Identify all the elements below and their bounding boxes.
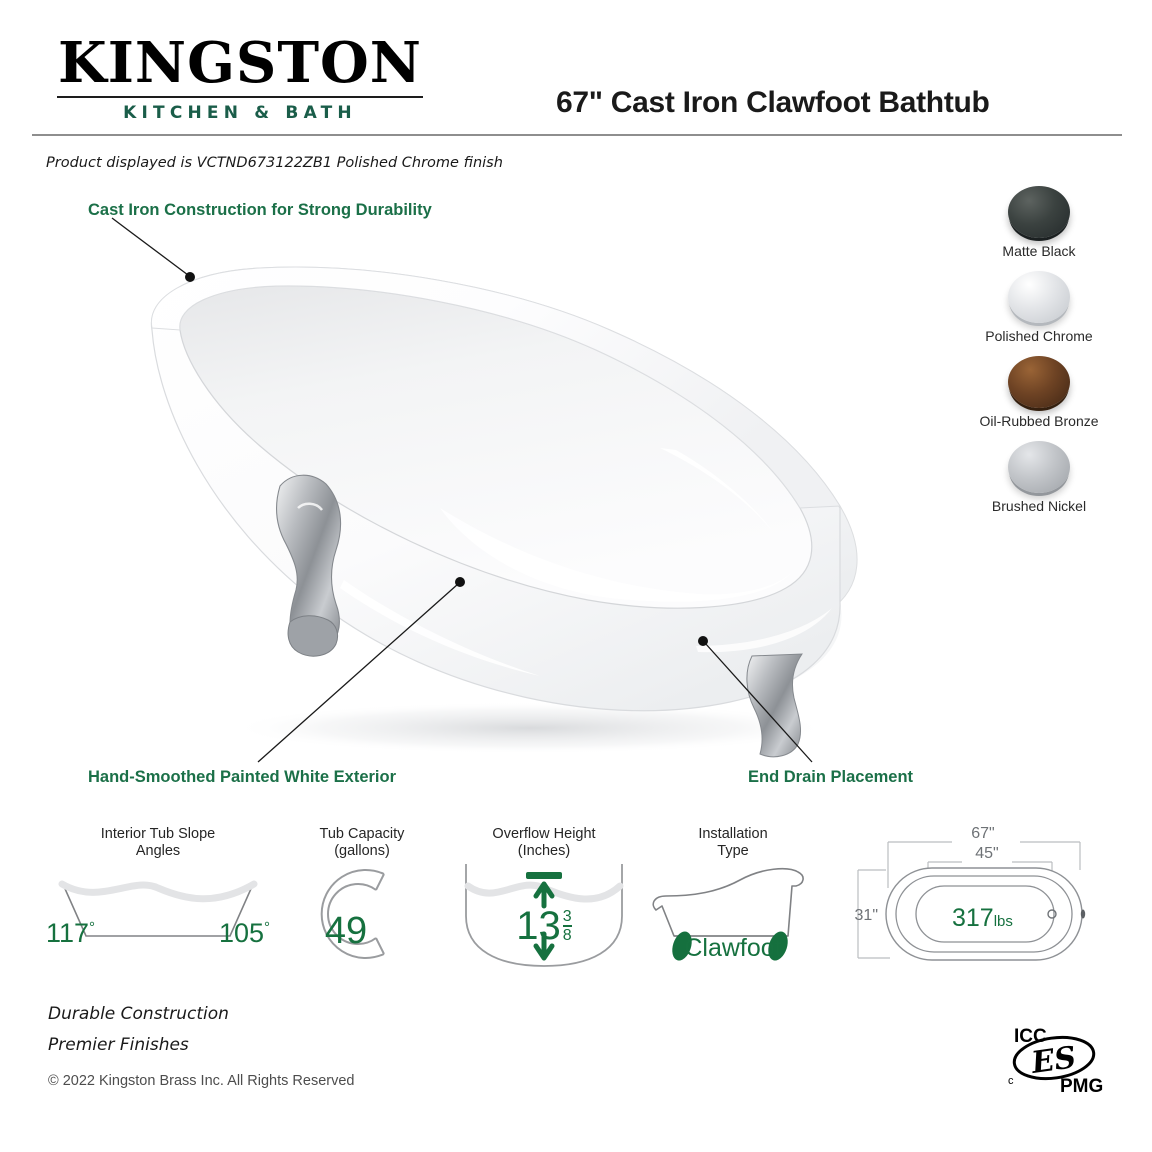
- copyright-text: © 2022 Kingston Brass Inc. All Rights Re…: [48, 1073, 354, 1089]
- page-header: KINGSTON KITCHEN & BATH 67" Cast Iron Cl…: [0, 0, 1152, 136]
- finish-note: Product displayed is VCTND673122ZB1 Poli…: [46, 155, 503, 171]
- finish-swatch-brushed-nickel: [1008, 441, 1070, 493]
- spec-overflow-height: Overflow Height (Inches) 13 3 8: [452, 826, 636, 860]
- brand-wordmark: KINGSTON: [55, 34, 425, 92]
- specifications-row: Interior Tub Slope Angles 117° 105° Tub …: [0, 826, 1152, 971]
- callout-painted-exterior: Hand-Smoothed Painted White Exterior: [88, 768, 396, 787]
- page-footer: Durable Construction Premier Finishes © …: [48, 1004, 354, 1089]
- header-divider: [32, 134, 1122, 136]
- finish-option[interactable]: Polished Chrome: [950, 271, 1128, 344]
- weight-group: 317lbs: [952, 904, 1013, 933]
- logo-divider: [57, 96, 423, 98]
- callout-cast-iron-construction: Cast Iron Construction for Strong Durabi…: [88, 201, 432, 220]
- overflow-denominator: 8: [563, 928, 572, 943]
- dimension-height-label: 31": [855, 907, 878, 924]
- overflow-whole: 13: [516, 906, 561, 946]
- weight-value: 317: [952, 904, 994, 932]
- spec-title: Installation Type: [640, 826, 826, 860]
- dimension-width-label: 67": [971, 825, 994, 842]
- finish-swatch-oil-rubbed-bronze: [1008, 356, 1070, 408]
- spec-interior-slope-angles: Interior Tub Slope Angles 117° 105°: [40, 826, 276, 860]
- cert-small-c: c: [1008, 1075, 1014, 1087]
- weight-unit: lbs: [994, 913, 1013, 930]
- slope-angle-left: 117°: [46, 918, 95, 949]
- spec-tub-capacity: Tub Capacity (gallons) 49: [272, 826, 452, 860]
- finish-option[interactable]: Brushed Nickel: [950, 441, 1128, 514]
- page-title: 67" Cast Iron Clawfoot Bathtub: [556, 86, 1126, 120]
- finish-label: Polished Chrome: [950, 328, 1128, 344]
- cert-es-text: ES: [1028, 1040, 1078, 1081]
- icc-es-pmg-certification-logo: ICC PMG c ES: [1002, 1022, 1106, 1098]
- footer-tagline-finishes: Premier Finishes: [48, 1035, 354, 1055]
- finish-options-list: Matte Black Polished Chrome Oil-Rubbed B…: [950, 186, 1128, 526]
- finish-label: Matte Black: [950, 243, 1128, 259]
- spec-title: Interior Tub Slope Angles: [40, 826, 276, 860]
- product-image-clawfoot-bathtub: [140, 258, 900, 758]
- finish-option[interactable]: Matte Black: [950, 186, 1128, 259]
- spec-dimensions-diagram: 67" 45" 31" 317lbs: [840, 820, 1120, 979]
- finish-swatch-polished-chrome: [1008, 271, 1070, 323]
- finish-option[interactable]: Oil-Rubbed Bronze: [950, 356, 1128, 429]
- finish-label: Oil-Rubbed Bronze: [950, 413, 1128, 429]
- dimensions-top-view-icon: 67" 45" 31": [840, 820, 1120, 975]
- overflow-fraction: 3 8: [563, 909, 572, 943]
- overflow-numerator: 3: [563, 909, 572, 924]
- callout-end-drain-placement: End Drain Placement: [748, 768, 913, 787]
- dimension-interior-label: 45": [975, 845, 998, 862]
- brand-logo: KINGSTON KITCHEN & BATH: [55, 34, 425, 123]
- installation-type-value: Clawfoot: [640, 934, 826, 963]
- finish-swatch-matte-black: [1008, 186, 1070, 238]
- capacity-value: 49: [256, 910, 436, 953]
- spec-title: Overflow Height (Inches): [452, 826, 636, 860]
- finish-label: Brushed Nickel: [950, 498, 1128, 514]
- cert-pmg-text: PMG: [1060, 1076, 1103, 1097]
- footer-tagline-durable: Durable Construction: [48, 1004, 354, 1024]
- spec-title: Tub Capacity (gallons): [272, 826, 452, 860]
- clawfoot-rear-right: [747, 654, 900, 758]
- brand-tagline: KITCHEN & BATH: [55, 103, 425, 123]
- overflow-value-group: 13 3 8: [452, 906, 636, 946]
- spec-installation-type: Installation Type Clawfoot: [640, 826, 826, 860]
